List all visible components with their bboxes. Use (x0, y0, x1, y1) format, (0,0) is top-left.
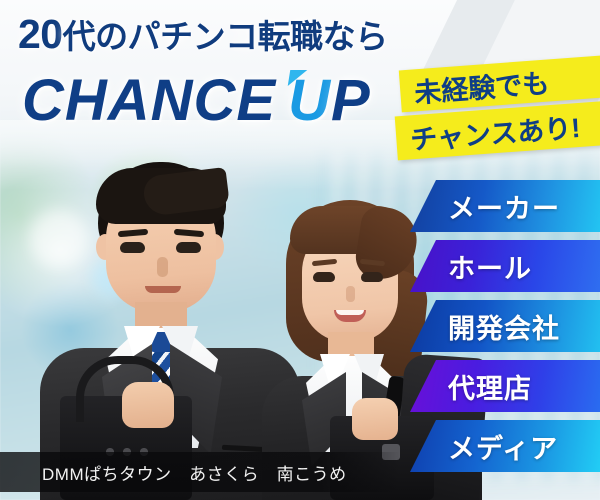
headline-number: 20 (18, 11, 63, 57)
page-title: 20代のパチンコ転職なら (18, 14, 388, 55)
recruitment-banner[interactable]: 20代のパチンコ転職なら CHANCEUP 未経験でも チャンスあり! メーカー… (0, 0, 600, 500)
credit-bar: DMMぱちタウン あさくら 南こうめ (0, 452, 400, 492)
woman-eye-right (361, 272, 383, 282)
man-mouth (145, 286, 181, 293)
up-arrow-icon (288, 70, 308, 86)
category-button-media[interactable]: メディア (410, 420, 600, 472)
woman-hand (352, 398, 398, 440)
man-hand (122, 382, 174, 428)
brand-logo: CHANCEUP (22, 72, 371, 130)
category-button-agency[interactable]: 代理店 (410, 360, 600, 412)
badge-no-experience-label: 未経験でも (413, 61, 550, 110)
woman-teeth (336, 310, 364, 315)
woman-nose (346, 286, 355, 302)
woman-eye-left (313, 272, 335, 282)
logo-letter-p: P (331, 68, 371, 133)
credit-text: DMMぱちタウン あさくら 南こうめ (42, 460, 347, 485)
category-button-development-company[interactable]: 開発会社 (410, 300, 600, 352)
category-button-media-label: メディア (448, 427, 558, 466)
logo-word-chance: CHANCE (22, 68, 276, 133)
headline-rest: 代のパチンコ転職なら (63, 18, 388, 55)
category-button-agency-label: 代理店 (448, 367, 532, 406)
category-button-development-company-label: 開発会社 (448, 307, 560, 346)
man-eye-left (120, 242, 145, 253)
man-eye-right (176, 242, 201, 253)
category-button-hall-label: ホール (448, 247, 532, 286)
category-button-maker-label: メーカー (448, 187, 560, 226)
category-button-hall[interactable]: ホール (410, 240, 600, 292)
man-nose (157, 257, 168, 277)
logo-word-up: UP (288, 72, 371, 130)
category-button-maker[interactable]: メーカー (410, 180, 600, 232)
